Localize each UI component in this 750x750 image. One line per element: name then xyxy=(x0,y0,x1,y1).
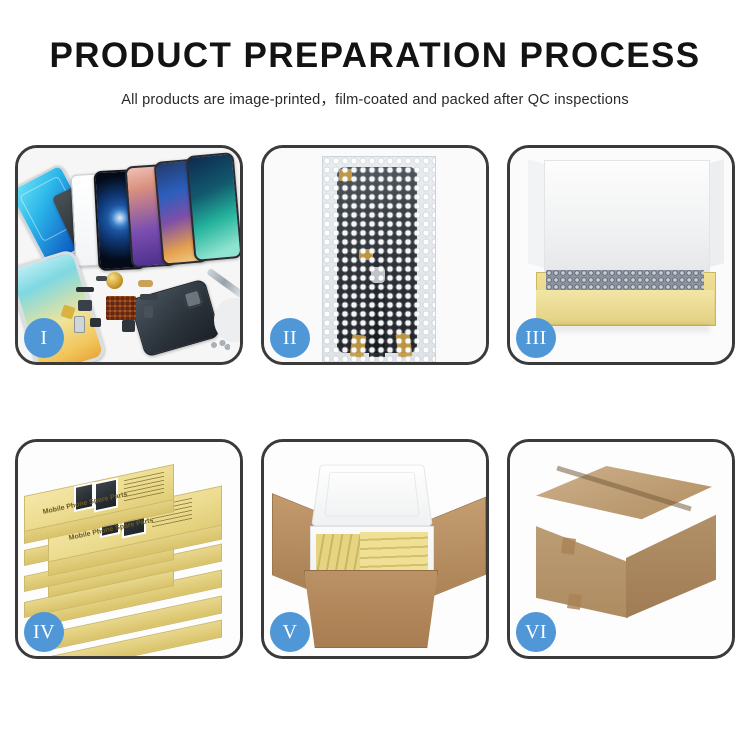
step-numeral-6: VI xyxy=(525,621,547,644)
step-badge-3: III xyxy=(516,318,556,358)
step-badge-1: I xyxy=(24,318,64,358)
spare-part-chip xyxy=(78,300,92,311)
spare-part-chip xyxy=(74,316,85,333)
spare-part-chip xyxy=(144,306,153,318)
white-box-lid xyxy=(544,160,710,278)
step-numeral-4: IV xyxy=(33,621,55,644)
bubble-texture xyxy=(323,157,435,362)
step-numeral-3: III xyxy=(525,327,546,350)
step-numeral-5: V xyxy=(283,621,298,644)
page-title: PRODUCT PREPARATION PROCESS xyxy=(0,38,750,75)
step-numeral-2: II xyxy=(283,327,297,350)
carton-tape-patch xyxy=(561,537,576,555)
carton-body xyxy=(304,570,438,648)
box-shadow xyxy=(540,324,710,332)
process-step-grid: I II xyxy=(15,145,735,679)
process-step-panel-5[interactable]: V xyxy=(261,439,489,659)
step-numeral-1: I xyxy=(40,327,47,350)
process-step-panel-4[interactable]: Mobile Phone Spare Parts Mobile Phone Sp… xyxy=(15,439,243,659)
page-subtitle: All products are image-printed，film-coat… xyxy=(0,88,750,109)
spare-part-chip xyxy=(122,320,135,332)
phone-screen-teal xyxy=(185,152,240,262)
process-step-panel-3[interactable]: III xyxy=(507,145,735,365)
speaker-coil-part xyxy=(106,272,123,289)
process-step-panel-6[interactable]: VI xyxy=(507,439,735,659)
step-badge-2: II xyxy=(270,318,310,358)
foam-lid xyxy=(311,465,432,527)
process-step-panel-2[interactable]: II xyxy=(261,145,489,365)
header: PRODUCT PREPARATION PROCESS All products… xyxy=(0,0,750,109)
spare-part-chip xyxy=(140,294,158,300)
step-badge-4: IV xyxy=(24,612,64,652)
yellow-box-front xyxy=(536,290,714,324)
spare-part-chip xyxy=(90,318,101,327)
screws xyxy=(210,340,230,350)
copper-mesh-part xyxy=(106,296,136,320)
spare-part-chip xyxy=(96,276,107,281)
spare-part-chip xyxy=(138,280,153,287)
carton-tape-patch xyxy=(567,593,582,610)
product-preparation-infographic: PRODUCT PREPARATION PROCESS All products… xyxy=(0,0,750,750)
step-badge-6: VI xyxy=(516,612,556,652)
process-step-panel-1[interactable]: I xyxy=(15,145,243,365)
step-badge-5: V xyxy=(270,612,310,652)
spare-part-chip xyxy=(76,287,94,292)
bubble-wrap-bag xyxy=(322,156,436,362)
